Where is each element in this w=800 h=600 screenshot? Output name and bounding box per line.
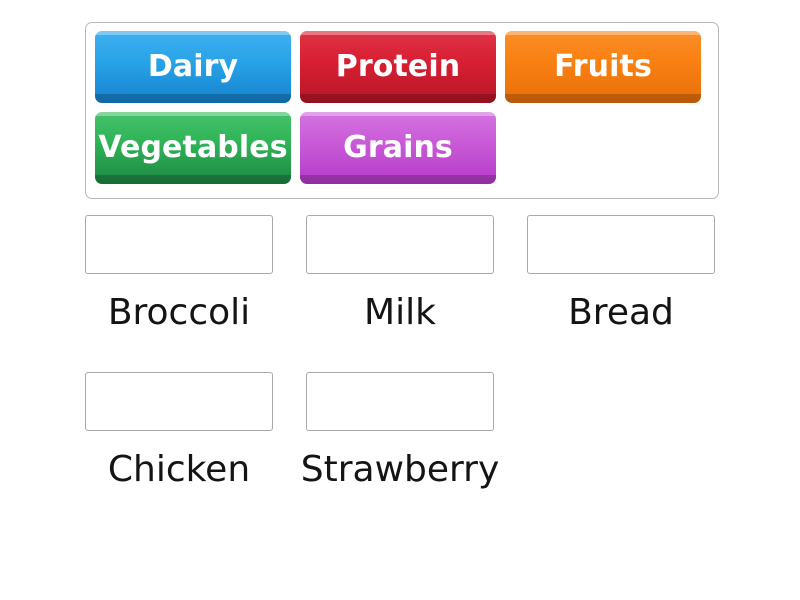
tile-label: Dairy xyxy=(142,52,244,82)
answer-item-broccoli: Broccoli xyxy=(85,215,273,331)
answer-label-milk: Milk xyxy=(364,295,436,331)
tile-label: Vegetables xyxy=(95,133,291,163)
answer-item-strawberry: Strawberry xyxy=(306,372,494,488)
draggable-tile-protein[interactable]: Protein xyxy=(300,31,496,103)
tile-label: Grains xyxy=(337,133,459,163)
tile-label: Protein xyxy=(330,52,466,82)
answer-item-bread: Bread xyxy=(527,215,715,331)
drop-zone-broccoli[interactable] xyxy=(85,215,273,274)
drop-zone-chicken[interactable] xyxy=(85,372,273,431)
tile-bank: Dairy Protein Fruits Vegetables Grains xyxy=(85,22,719,199)
draggable-tile-dairy[interactable]: Dairy xyxy=(95,31,291,103)
drop-zone-milk[interactable] xyxy=(306,215,494,274)
answer-item-chicken: Chicken xyxy=(85,372,273,488)
answer-row-1: Broccoli Milk Bread xyxy=(85,215,725,331)
tile-label: Fruits xyxy=(548,52,658,82)
answer-row-2: Chicken Strawberry xyxy=(85,372,725,488)
tile-bank-row-2: Vegetables Grains xyxy=(95,112,709,188)
draggable-tile-grains[interactable]: Grains xyxy=(300,112,496,184)
tile-bank-row-1: Dairy Protein Fruits xyxy=(95,31,709,107)
draggable-tile-vegetables[interactable]: Vegetables xyxy=(95,112,291,184)
drop-zone-strawberry[interactable] xyxy=(306,372,494,431)
answer-label-broccoli: Broccoli xyxy=(108,295,250,331)
answers-area: Broccoli Milk Bread Chicken Strawberry xyxy=(85,215,725,529)
drop-zone-bread[interactable] xyxy=(527,215,715,274)
answer-item-milk: Milk xyxy=(306,215,494,331)
tile-bank-empty-slot xyxy=(505,112,701,184)
draggable-tile-fruits[interactable]: Fruits xyxy=(505,31,701,103)
answer-label-bread: Bread xyxy=(568,295,674,331)
activity-stage: Dairy Protein Fruits Vegetables Grains B… xyxy=(0,0,800,600)
answer-label-chicken: Chicken xyxy=(108,452,250,488)
answer-label-strawberry: Strawberry xyxy=(301,452,500,488)
